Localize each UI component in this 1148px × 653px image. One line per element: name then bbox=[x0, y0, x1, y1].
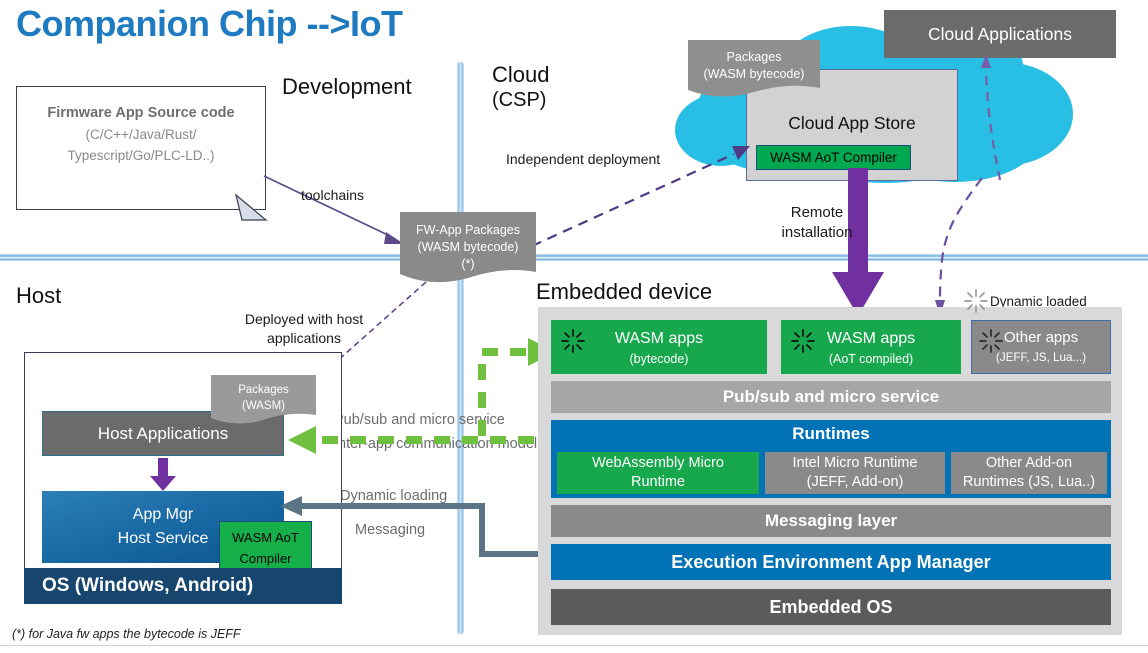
zone-label-cloud-main: Cloud bbox=[492, 62, 549, 87]
label-remote-installation-l2: installation bbox=[782, 224, 853, 241]
cloud-wasm-aot-compiler-label: WASM AoT Compiler bbox=[770, 150, 897, 165]
zone-label-development: Development bbox=[282, 74, 412, 100]
runtime-webassembly-line1: WebAssembly Micro bbox=[557, 454, 759, 473]
label-toolchains: toolchains bbox=[301, 186, 364, 205]
host-os-bar: OS (Windows, Android) bbox=[24, 568, 342, 604]
slide-footnote: (*) for Java fw apps the bytecode is JEF… bbox=[12, 627, 241, 641]
host-apps-to-appmgr-arrow-icon bbox=[149, 458, 177, 492]
embedded-os-bar: Embedded OS bbox=[551, 589, 1111, 625]
cloud-app-store-title: Cloud App Store bbox=[747, 112, 957, 134]
host-packages-line2: (WASM) bbox=[242, 400, 285, 412]
label-remote-installation: Remote installation bbox=[771, 203, 863, 243]
starburst-dynamic-icon bbox=[980, 330, 1002, 352]
runtime-intel-line2: (JEFF, Add-on) bbox=[765, 473, 945, 492]
label-independent-deployment: Independent deployment bbox=[506, 150, 660, 169]
firmware-source-box: Firmware App Source code (C/C++/Java/Rus… bbox=[16, 86, 266, 210]
firmware-source-line2: (C/C++/Java/Rust/ bbox=[17, 125, 265, 144]
embedded-exec-env-app-manager-bar: Execution Environment App Manager bbox=[551, 544, 1111, 580]
runtime-other-addon: Other Add-on Runtimes (JS, Lua..) bbox=[951, 452, 1107, 494]
runtime-other-line2: Runtimes (JS, Lua..) bbox=[951, 473, 1107, 492]
host-packages-line1: Packages bbox=[238, 384, 289, 396]
wasm-apps-bytecode-line2: (bytecode) bbox=[551, 349, 767, 370]
runtime-intel-micro: Intel Micro Runtime (JEFF, Add-on) bbox=[765, 452, 945, 494]
fw-app-packages-line2: (WASM bytecode) bbox=[418, 240, 519, 254]
fw-app-packages-line1: FW-App Packages bbox=[416, 223, 520, 237]
app-mgr-line1: App Mgr bbox=[133, 506, 193, 523]
app-mgr-line2: Host Service bbox=[118, 530, 209, 547]
cloud-apps-dashed-arrow-icon bbox=[960, 48, 1020, 184]
zone-label-cloud: Cloud (CSP) bbox=[492, 62, 549, 112]
zone-label-host: Host bbox=[16, 283, 61, 309]
fw-app-packages-line3: (*) bbox=[461, 257, 474, 271]
runtime-other-line1: Other Add-on bbox=[951, 454, 1107, 473]
bottom-rule bbox=[0, 645, 1148, 646]
cloud-packages-line2: (WASM bytecode) bbox=[704, 67, 805, 81]
page-title: Companion Chip -->IoT bbox=[16, 2, 656, 46]
pubsub-dashed-arrow-icon bbox=[284, 330, 560, 450]
zone-label-cloud-sub: (CSP) bbox=[492, 88, 549, 112]
slide-canvas: Companion Chip -->IoT Development Cloud … bbox=[0, 0, 1148, 653]
runtime-intel-line1: Intel Micro Runtime bbox=[765, 454, 945, 473]
embedded-pubsub-bar: Pub/sub and micro service bbox=[551, 381, 1111, 413]
embedded-runtimes-title: Runtimes bbox=[551, 421, 1111, 447]
fw-app-packages-text: FW-App Packages (WASM bytecode) (*) bbox=[400, 222, 536, 273]
embedded-messaging-layer-bar: Messaging layer bbox=[551, 505, 1111, 537]
runtime-webassembly-line2: Runtime bbox=[557, 473, 759, 492]
starburst-dynamic-icon bbox=[965, 290, 987, 312]
runtime-webassembly-micro: WebAssembly Micro Runtime bbox=[557, 452, 759, 494]
firmware-source-title: Firmware App Source code bbox=[17, 104, 265, 123]
label-remote-installation-l1: Remote bbox=[791, 204, 844, 221]
firmware-source-line3: Typescript/Go/PLC-LD..) bbox=[17, 146, 265, 165]
messaging-arrow-icon bbox=[278, 492, 568, 570]
cloud-wasm-aot-compiler: WASM AoT Compiler bbox=[756, 145, 911, 170]
fw-app-packages-callout: FW-App Packages (WASM bytecode) (*) bbox=[400, 212, 536, 285]
wasm-apps-aot-line2: (AoT compiled) bbox=[781, 349, 961, 370]
label-deployed-with-host-l1: Deployed with host bbox=[245, 311, 363, 327]
cloud-packages-line1: Packages bbox=[727, 50, 782, 64]
starburst-dynamic-icon bbox=[562, 330, 584, 352]
cloud-packages-callout: Packages (WASM bytecode) bbox=[688, 40, 820, 98]
starburst-dynamic-icon bbox=[792, 330, 814, 352]
remote-installation-arrow-icon bbox=[828, 168, 888, 318]
cloud-packages-text: Packages (WASM bytecode) bbox=[688, 49, 820, 83]
zone-label-embedded-device: Embedded device bbox=[536, 279, 712, 305]
